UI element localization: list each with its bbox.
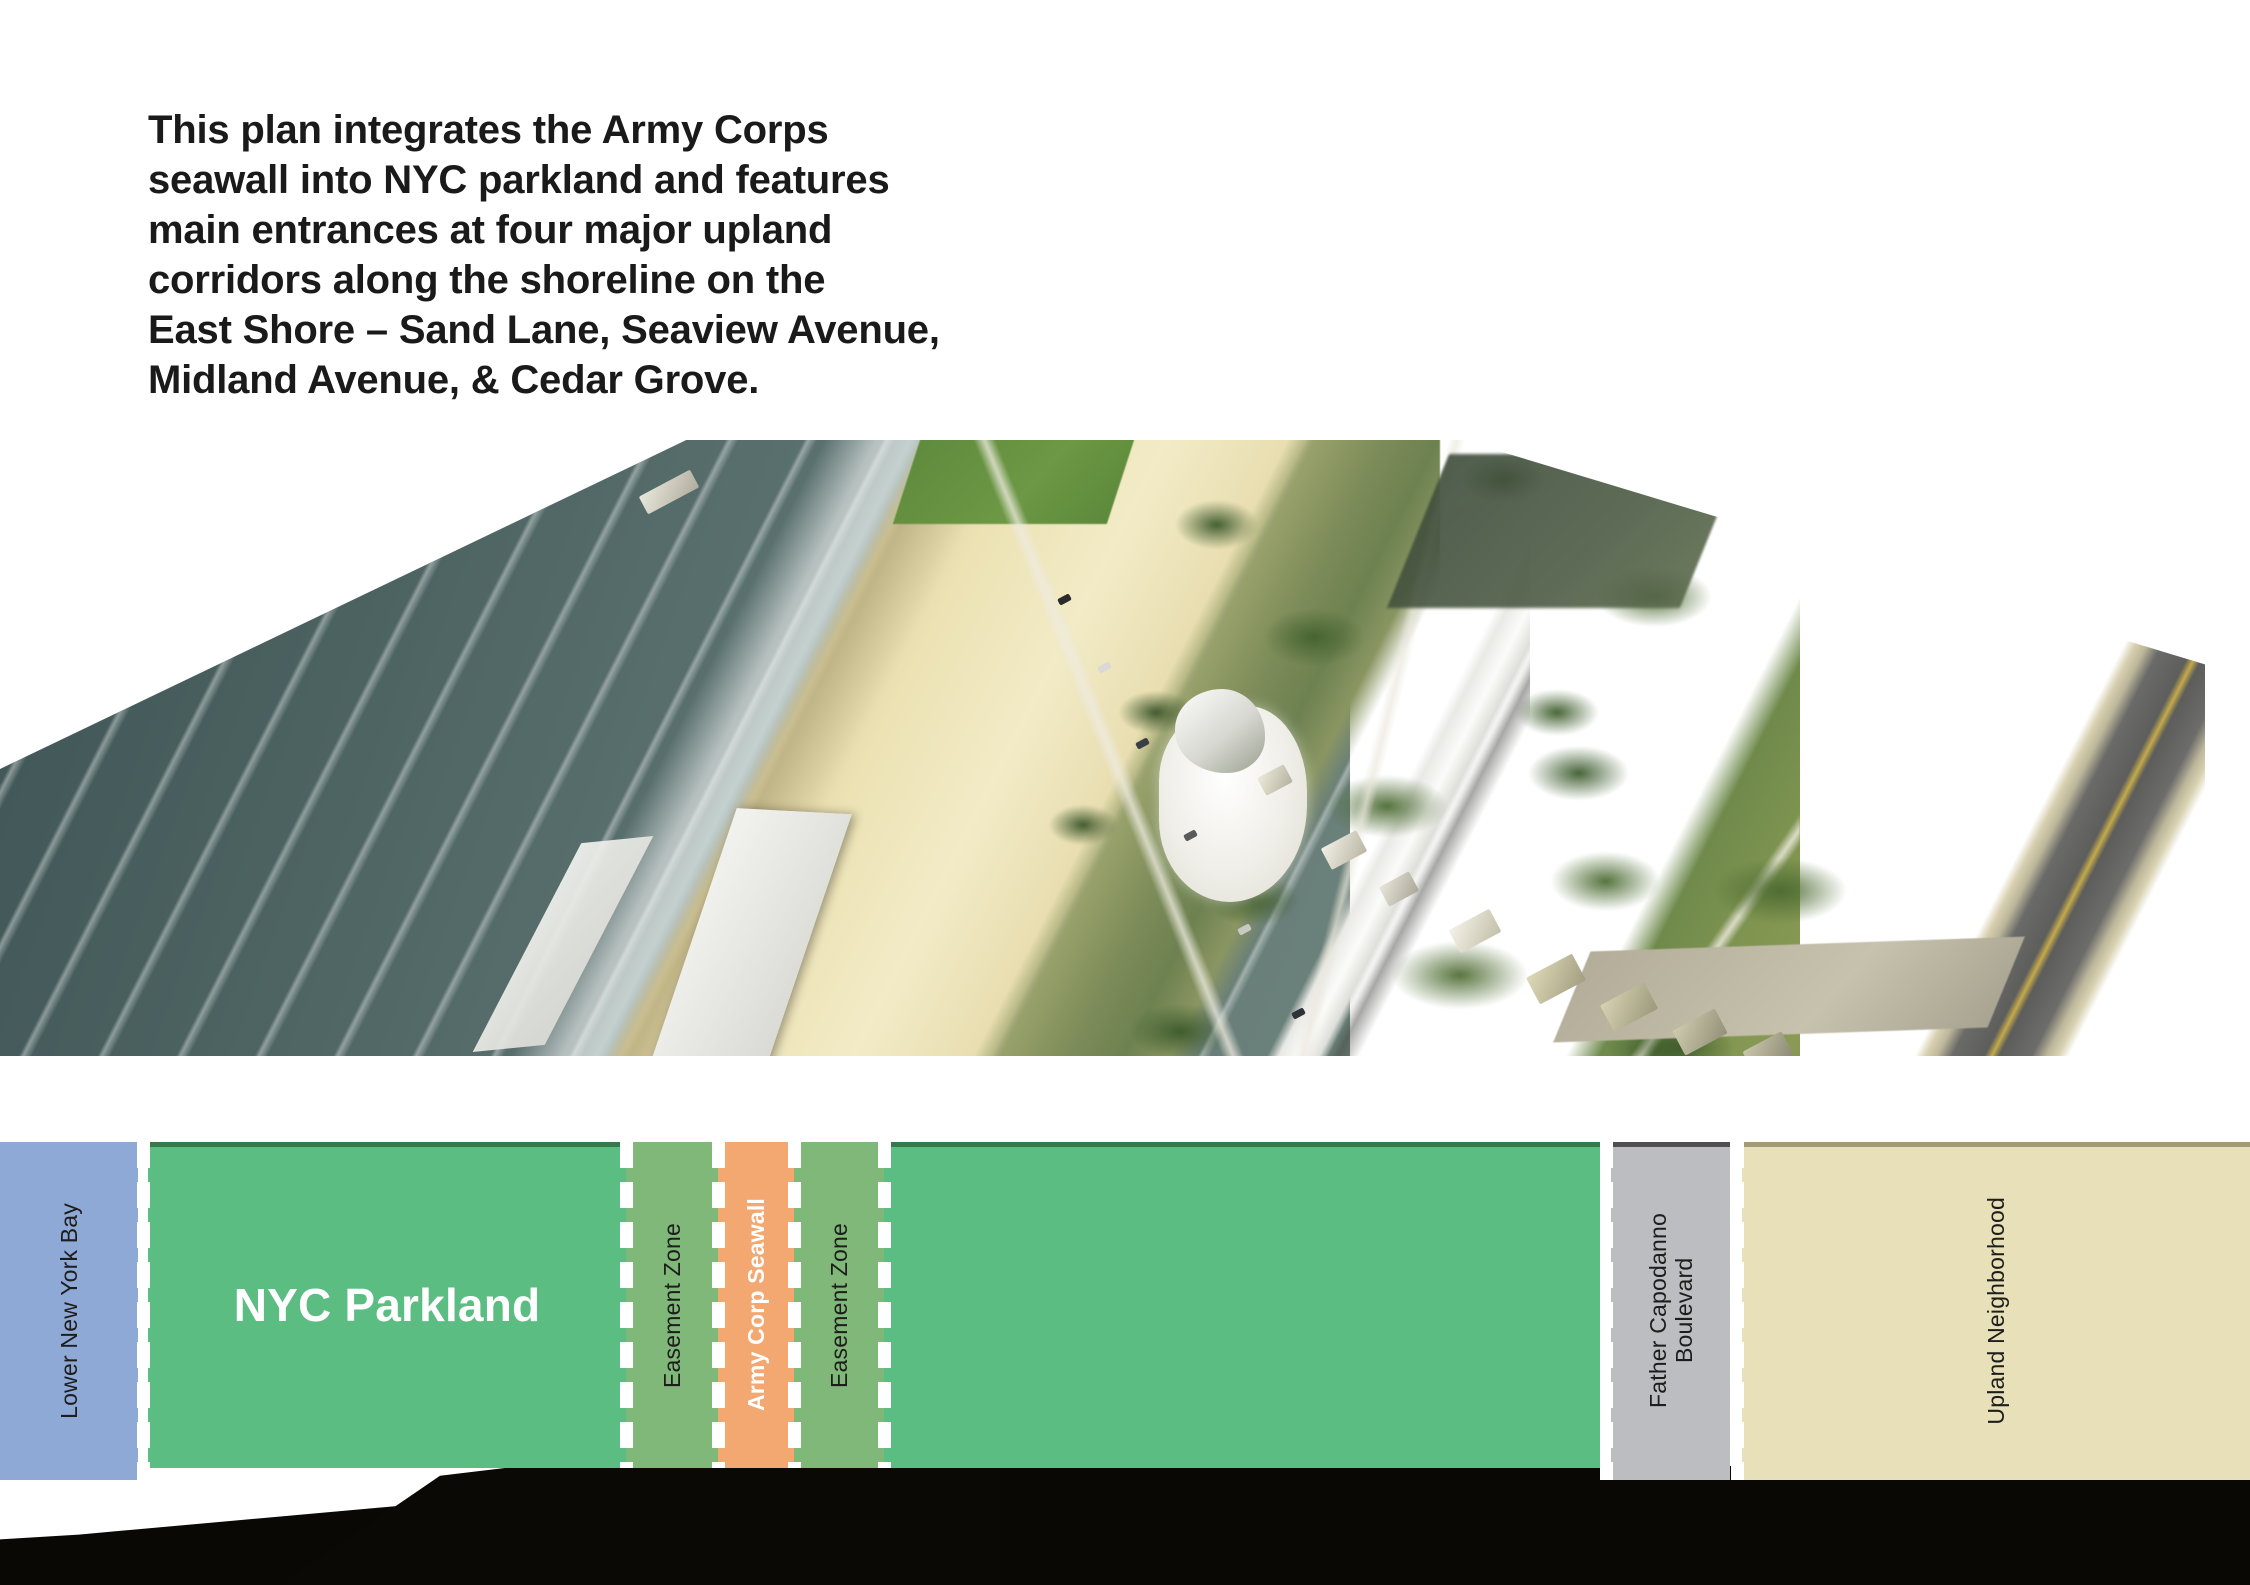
segment-label-army-corp-seawall: Army Corp Seawall <box>743 1198 769 1411</box>
segment-label-lower-new-york-bay: Lower New York Bay <box>56 1203 82 1419</box>
wetland <box>1386 454 1741 608</box>
divider-seawall-easement-e <box>788 1142 801 1468</box>
segment-label-father-capodanno-boulevard: Father Capodanno Boulevard <box>1645 1213 1697 1408</box>
boulevard-top-rule <box>1611 1142 1730 1147</box>
divider-parkland-boulevard <box>1600 1142 1613 1480</box>
segment-label-upland-neighborhood: Upland Neighborhood <box>1983 1197 2009 1425</box>
segment-army-corp-seawall[interactable]: Army Corp Seawall <box>718 1142 794 1468</box>
divider-easement-w-seawall <box>712 1142 725 1468</box>
segment-nyc-parkland-east[interactable] <box>884 1142 1600 1468</box>
segment-nyc-parkland-west[interactable]: NYC Parkland <box>148 1142 626 1468</box>
segment-father-capodanno-boulevard[interactable]: Father Capodanno Boulevard <box>1611 1142 1730 1480</box>
segment-easement-zone-west[interactable]: Easement Zone <box>626 1142 718 1468</box>
divider-boulevard-upland <box>1731 1142 1744 1480</box>
parkland-top-rule <box>884 1142 1600 1147</box>
segment-label-easement-zone-west: Easement Zone <box>659 1223 685 1388</box>
aerial-rendering <box>0 440 2250 1140</box>
cross-section-diagram: Lower New York Bay NYC Parkland Easement… <box>0 1142 2250 1480</box>
upland-top-rule <box>1742 1142 2250 1147</box>
segment-label-nyc-parkland: NYC Parkland <box>234 1292 541 1318</box>
segment-label-easement-zone-east: Easement Zone <box>826 1223 852 1388</box>
aerial-photo-clip <box>0 440 2250 1140</box>
parkland-top-rule <box>148 1142 626 1147</box>
page-title: This plan integrates the Army Corps seaw… <box>148 105 1028 405</box>
divider-bay-parkland <box>137 1142 150 1480</box>
segment-upland-neighborhood[interactable]: Upland Neighborhood <box>1742 1142 2250 1480</box>
divider-parkland-easement-w <box>620 1142 633 1468</box>
segment-easement-zone-east[interactable]: Easement Zone <box>794 1142 884 1468</box>
segment-lower-new-york-bay[interactable]: Lower New York Bay <box>0 1142 138 1480</box>
divider-easement-e-parkland <box>878 1142 891 1468</box>
